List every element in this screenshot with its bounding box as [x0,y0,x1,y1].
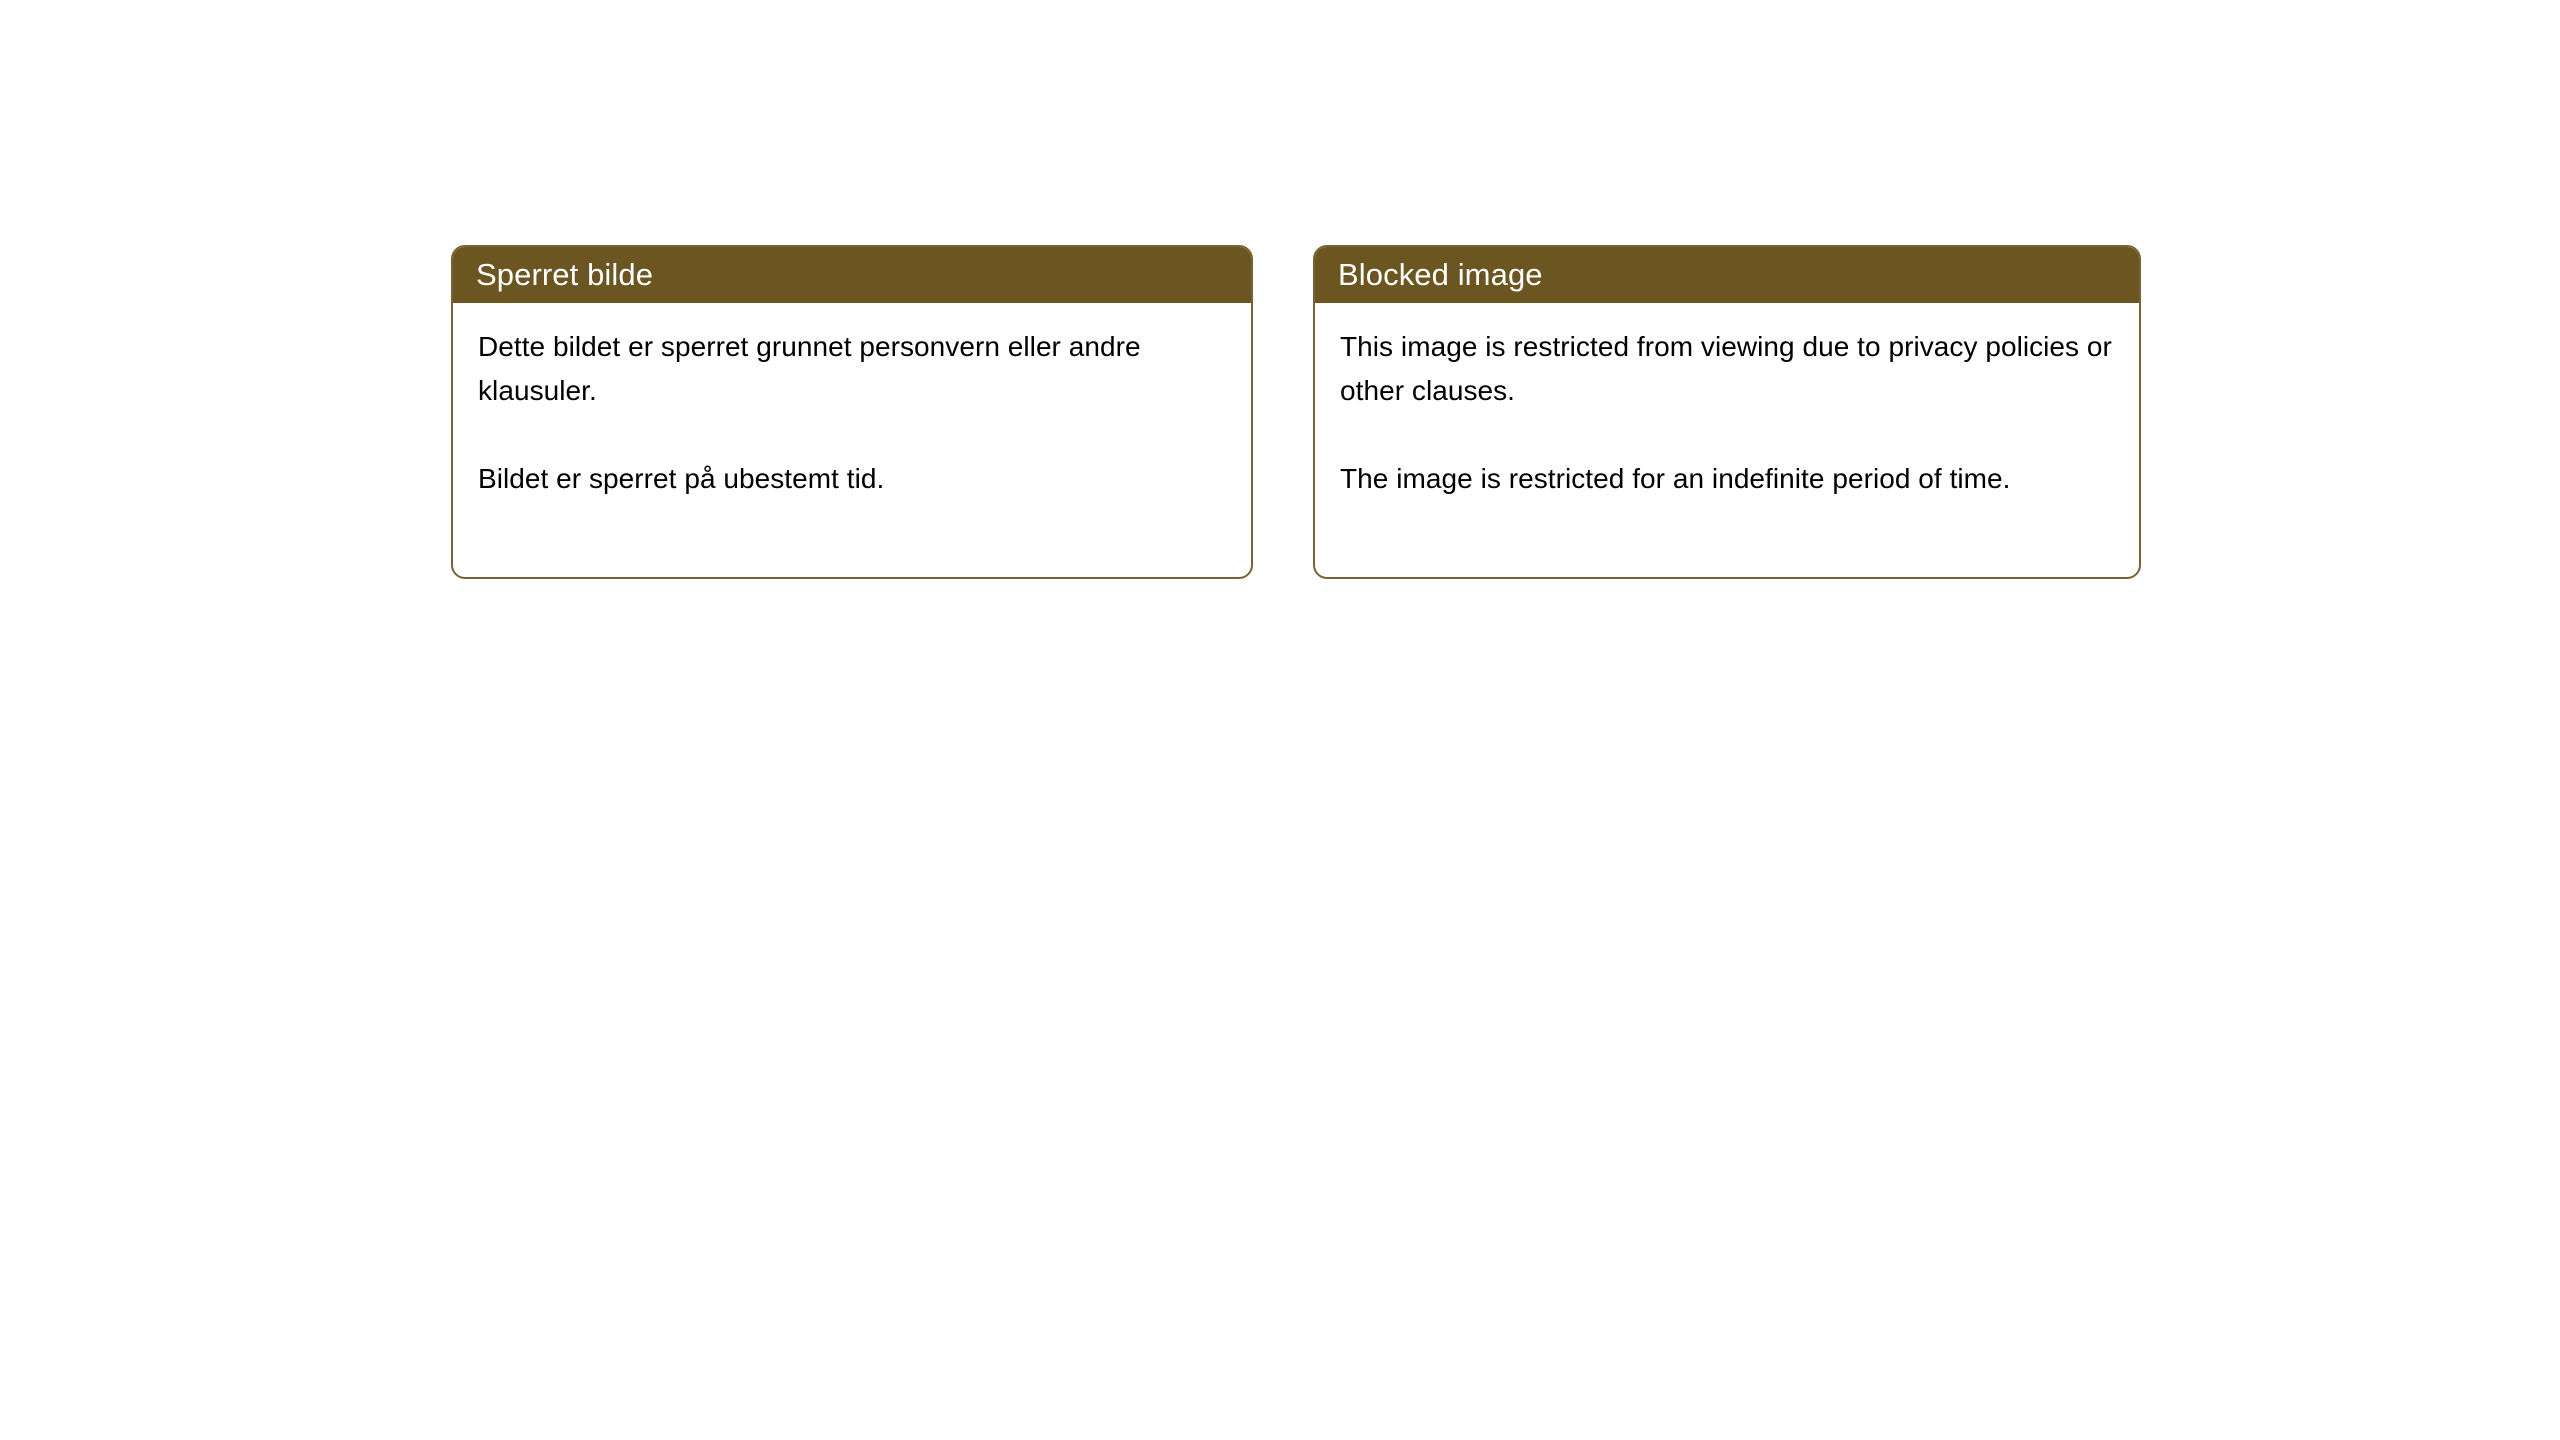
card-title-no: Sperret bilde [476,259,653,290]
blocked-image-notice-en: Blocked image This image is restricted f… [1313,245,2141,579]
page-canvas: Sperret bilde Dette bildet er sperret gr… [0,0,2560,1440]
card-body-en: This image is restricted from viewing du… [1315,303,2139,501]
card-header-en: Blocked image [1313,245,2141,303]
card-title-en: Blocked image [1338,259,1543,290]
card-paragraph-no-1: Dette bildet er sperret grunnet personve… [478,325,1227,413]
card-paragraph-en-1: This image is restricted from viewing du… [1340,325,2115,413]
card-paragraph-en-2: The image is restricted for an indefinit… [1340,457,2115,501]
card-header-no: Sperret bilde [451,245,1253,303]
blocked-image-notice-no: Sperret bilde Dette bildet er sperret gr… [451,245,1253,579]
card-body-no: Dette bildet er sperret grunnet personve… [453,303,1251,501]
card-paragraph-no-2: Bildet er sperret på ubestemt tid. [478,457,1227,501]
